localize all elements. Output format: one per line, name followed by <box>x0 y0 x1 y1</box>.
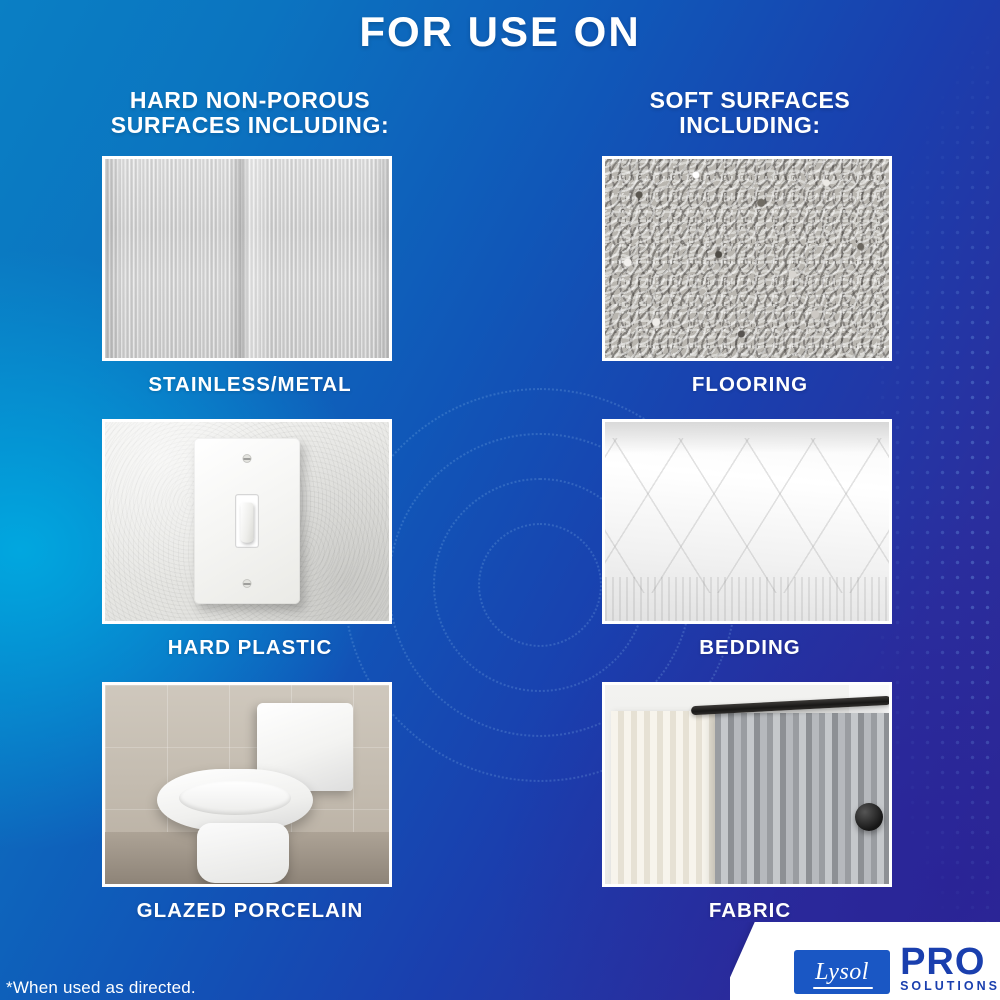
gray-curtain-photo <box>602 682 892 887</box>
surface-card-flooring: FLOORING <box>602 156 898 413</box>
surface-card-hard-plastic: HARD PLASTIC <box>102 419 398 676</box>
column-heading-hard: HARD NON-POROUS SURFACES INCLUDING: <box>111 88 389 138</box>
pro-wordmark: PRO <box>900 945 1000 980</box>
bathroom-scene <box>105 685 389 884</box>
carpet-texture <box>605 159 889 358</box>
column-heading-hard-line1: HARD NON-POROUS <box>111 88 389 113</box>
toilet-bowl <box>157 769 313 831</box>
solutions-wordmark: SOLUTIONS <box>900 980 1000 993</box>
lysol-logo: Lysol <box>794 950 890 994</box>
mattress-edge-band <box>605 577 889 621</box>
surface-card-fabric: FABRIC <box>602 682 898 939</box>
screw-icon <box>243 579 252 588</box>
surface-card-bedding: BEDDING <box>602 419 898 676</box>
curtain-scene <box>605 685 889 884</box>
surface-card-stainless-metal: STAINLESS/METAL <box>102 156 398 413</box>
pro-solutions-lockup: PRO SOLUTIONS <box>900 945 1000 994</box>
lysol-wordmark: Lysol <box>815 959 869 986</box>
caption-stainless-metal: STAINLESS/METAL <box>102 361 398 413</box>
switch-plate <box>194 438 300 604</box>
surface-columns: HARD NON-POROUS SURFACES INCLUDING: STAI… <box>0 88 1000 945</box>
column-soft-surfaces: SOFT SURFACES INCLUDING: FLOORING BEDD <box>500 88 1000 945</box>
brushed-metal-texture <box>105 159 389 358</box>
footnote-text: *When used as directed. <box>6 978 196 998</box>
column-heading-soft-line2: INCLUDING: <box>650 113 851 138</box>
caption-flooring: FLOORING <box>602 361 898 413</box>
sheer-curtain <box>611 711 731 887</box>
curtain-rod-finial <box>855 803 883 831</box>
mattress-surface <box>605 422 889 621</box>
toilet-base <box>197 823 289 883</box>
column-hard-surfaces: HARD NON-POROUS SURFACES INCLUDING: STAI… <box>0 88 500 945</box>
brand-corner-badge: Lysol PRO SOLUTIONS <box>730 922 1000 1000</box>
page-title: FOR USE ON <box>0 8 1000 56</box>
quilted-mattress-photo <box>602 419 892 624</box>
column-heading-soft: SOFT SURFACES INCLUDING: <box>650 88 851 138</box>
stainless-steel-panel-photo <box>102 156 392 361</box>
column-heading-hard-line2: SURFACES INCLUDING: <box>111 113 389 138</box>
column-heading-soft-line1: SOFT SURFACES <box>650 88 851 113</box>
caption-hard-plastic: HARD PLASTIC <box>102 624 398 676</box>
caption-bedding: BEDDING <box>602 624 898 676</box>
gray-drape <box>715 713 889 887</box>
quilt-diamond-pattern <box>602 438 892 593</box>
toilet-photo <box>102 682 392 887</box>
screw-icon <box>243 454 252 463</box>
surface-card-glazed-porcelain: GLAZED PORCELAIN <box>102 682 398 939</box>
switch-toggle <box>241 503 254 543</box>
light-switch-plate-photo <box>102 419 392 624</box>
brand-lockup: Lysol PRO SOLUTIONS <box>794 945 1000 994</box>
poster-canvas: FOR USE ON HARD NON-POROUS SURFACES INCL… <box>0 0 1000 1000</box>
caption-glazed-porcelain: GLAZED PORCELAIN <box>102 887 398 939</box>
carpet-flooring-photo <box>602 156 892 361</box>
